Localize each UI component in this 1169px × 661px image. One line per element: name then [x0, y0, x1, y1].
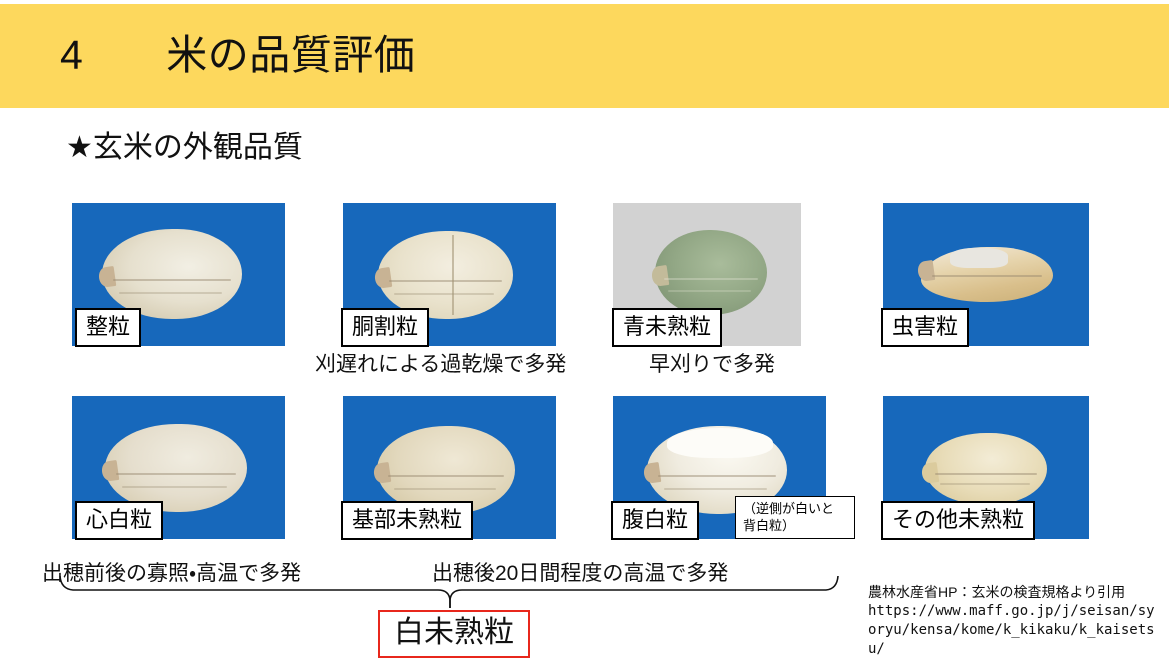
grain-subnote-sehakuryu: （逆側が白いと 背白粒）	[735, 496, 855, 539]
grain-cell-aomijukuryu: 青未熟粒 早刈りで多発	[613, 203, 801, 346]
rice-grain-image	[921, 247, 1053, 302]
slide-canvas: 4 米の品質評価 ★玄米の外観品質 整粒 胴割粒 刈遅れによる過乾燥で多発	[0, 0, 1169, 661]
grain-caption-dowareryu: 刈遅れによる過乾燥で多発	[315, 351, 566, 379]
source-url[interactable]: https://www.maff.go.jp/j/seisan/syoryu/k…	[868, 602, 1160, 659]
grain-cell-kibumijukuryu: 基部未熟粒	[343, 396, 556, 539]
grain-label-kibumijukuryu: 基部未熟粒	[341, 501, 473, 540]
grain-label-dowareryu: 胴割粒	[341, 308, 429, 347]
grain-cell-fukuhakuryu: 腹白粒 （逆側が白いと 背白粒）	[613, 396, 826, 539]
grain-label-aomijukuryu: 青未熟粒	[612, 308, 722, 347]
grain-label-sonota-mijukuryu: その他未熟粒	[881, 501, 1035, 540]
grain-cell-dowareryu: 胴割粒 刈遅れによる過乾燥で多発	[343, 203, 556, 346]
summary-label-shiromijukuryu: 白未熟粒	[378, 610, 530, 658]
section-heading: ★玄米の外観品質	[66, 128, 303, 168]
rice-grain-image	[105, 424, 247, 512]
source-title: 農林水産省HP：玄米の検査規格より引用	[868, 583, 1168, 602]
grain-label-chugairyu: 虫害粒	[881, 308, 969, 347]
rice-grain-image	[925, 433, 1047, 505]
grain-label-seiryu: 整粒	[75, 308, 141, 347]
grain-label-shinpakuryu: 心白粒	[75, 501, 163, 540]
rice-grain-image	[655, 230, 767, 315]
grain-cell-shinpakuryu: 心白粒	[72, 396, 285, 539]
grain-cell-seiryu: 整粒	[72, 203, 285, 346]
page-title: 4 米の品質評価	[60, 25, 415, 85]
rice-grain-image	[102, 229, 242, 319]
source-note: 農林水産省HP：玄米の検査規格より引用 https://www.maff.go.…	[868, 583, 1168, 659]
grain-cell-sonota-mijukuryu: その他未熟粒	[883, 396, 1089, 539]
grain-cell-chugairyu: 虫害粒	[883, 203, 1089, 346]
grain-label-fukuhakuryu: 腹白粒	[611, 501, 699, 540]
grain-caption-aomijukuryu: 早刈りで多発	[649, 351, 775, 379]
rice-grain-image	[378, 231, 513, 319]
